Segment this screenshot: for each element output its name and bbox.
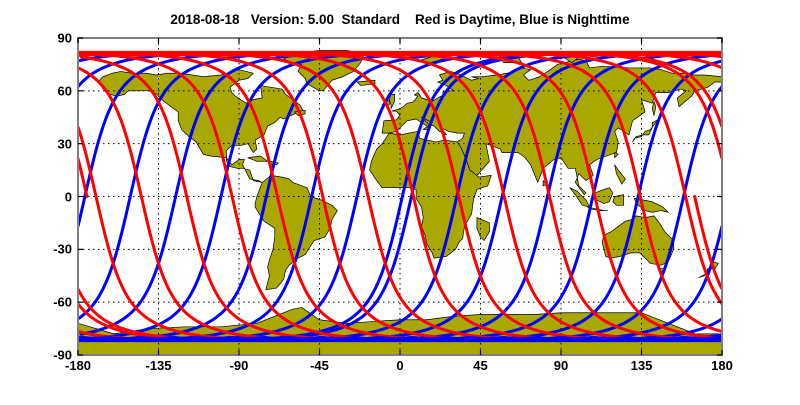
x-axis-tick-label: -135 bbox=[145, 358, 171, 373]
x-axis-tick-label: -45 bbox=[310, 358, 329, 373]
y-axis-tick-label: 30 bbox=[28, 136, 72, 151]
x-axis-tick-label: 0 bbox=[396, 358, 403, 373]
x-axis-tick-label: 45 bbox=[473, 358, 487, 373]
y-axis-tick-label: 0 bbox=[28, 189, 72, 204]
x-axis-tick-label: -180 bbox=[65, 358, 91, 373]
x-axis-tick-label: 135 bbox=[631, 358, 653, 373]
y-axis-tick-label: -60 bbox=[28, 295, 72, 310]
satellite-ground-track-figure: 2018-08-18 Version: 5.00 Standard Red is… bbox=[0, 0, 800, 400]
y-axis-tick-label: 60 bbox=[28, 83, 72, 98]
y-axis-tick-label: 90 bbox=[28, 31, 72, 46]
x-axis-tick-label: 90 bbox=[554, 358, 568, 373]
x-axis-tick-label: -90 bbox=[230, 358, 249, 373]
plot-canvas bbox=[0, 0, 800, 400]
y-axis-tick-label: -30 bbox=[28, 242, 72, 257]
x-axis-tick-label: 180 bbox=[711, 358, 733, 373]
page-title: 2018-08-18 Version: 5.00 Standard Red is… bbox=[0, 12, 800, 27]
